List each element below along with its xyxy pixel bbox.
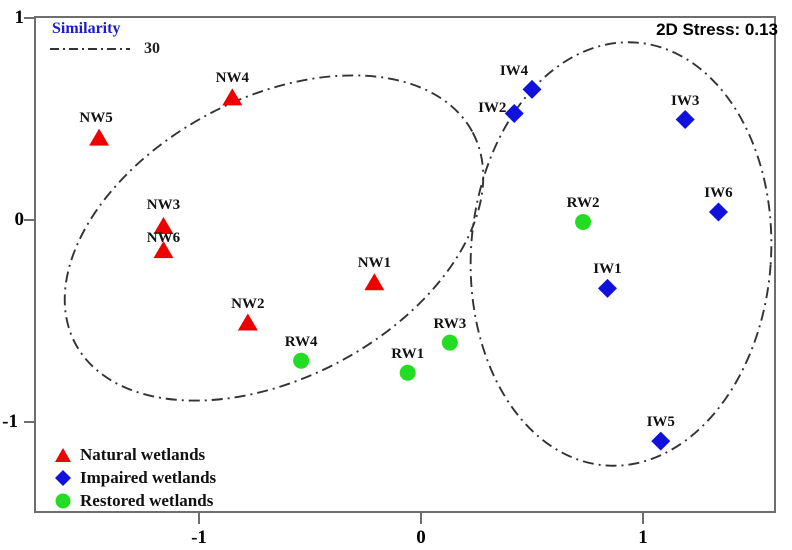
point-label-nw4: NW4	[216, 70, 249, 87]
circle-marker-icon	[52, 491, 74, 511]
plot-area-frame	[34, 16, 776, 513]
series-legend: Natural wetlands Impaired wetlands Resto…	[52, 443, 216, 512]
similarity-dash-line	[50, 48, 130, 50]
similarity-key: Similarity 30	[52, 20, 242, 58]
x-tick-label-neg1: -1	[179, 527, 219, 549]
point-label-iw6: IW6	[704, 185, 732, 202]
legend-item-restored-wetlands: Restored wetlands	[52, 489, 216, 512]
similarity-sample-row: 30	[52, 40, 242, 58]
legend-item-natural-wetlands: Natural wetlands	[52, 443, 216, 466]
point-label-nw2: NW2	[231, 296, 264, 313]
point-label-nw3: NW3	[147, 197, 180, 214]
nmds-ordination-plot: 1 0 -1 -1 0 1 Similarity 30 2D Stress: 0…	[0, 0, 792, 550]
point-label-iw2: IW2	[478, 100, 506, 117]
point-label-rw2: RW2	[567, 195, 600, 212]
x-axis-ticks	[199, 513, 643, 524]
point-label-iw3: IW3	[671, 93, 699, 110]
similarity-title: Similarity	[52, 20, 242, 38]
point-label-rw3: RW3	[433, 316, 466, 333]
point-label-iw4: IW4	[500, 63, 528, 80]
legend-label-restored-wetlands: Restored wetlands	[80, 491, 213, 511]
point-label-rw4: RW4	[285, 334, 318, 351]
legend-item-impaired-wetlands: Impaired wetlands	[52, 466, 216, 489]
x-tick-label-1: 1	[623, 527, 663, 549]
y-tick-label-0: 0	[0, 209, 24, 231]
legend-label-impaired-wetlands: Impaired wetlands	[80, 468, 216, 488]
legend-label-natural-wetlands: Natural wetlands	[80, 445, 205, 465]
y-axis-ticks	[24, 18, 34, 422]
diamond-marker-icon	[52, 468, 74, 488]
x-tick-label-0: 0	[401, 527, 441, 549]
point-label-iw1: IW1	[593, 261, 621, 278]
point-label-nw6: NW6	[147, 230, 180, 247]
point-label-iw5: IW5	[647, 414, 675, 431]
similarity-value: 30	[144, 40, 160, 58]
point-label-nw5: NW5	[79, 110, 112, 127]
stress-annotation: 2D Stress: 0.13	[656, 20, 778, 40]
y-tick-label-1: 1	[0, 7, 24, 29]
triangle-marker-icon	[52, 445, 74, 465]
y-tick-label-neg1: -1	[0, 411, 18, 433]
point-label-rw1: RW1	[391, 346, 424, 363]
point-label-nw1: NW1	[358, 255, 391, 272]
